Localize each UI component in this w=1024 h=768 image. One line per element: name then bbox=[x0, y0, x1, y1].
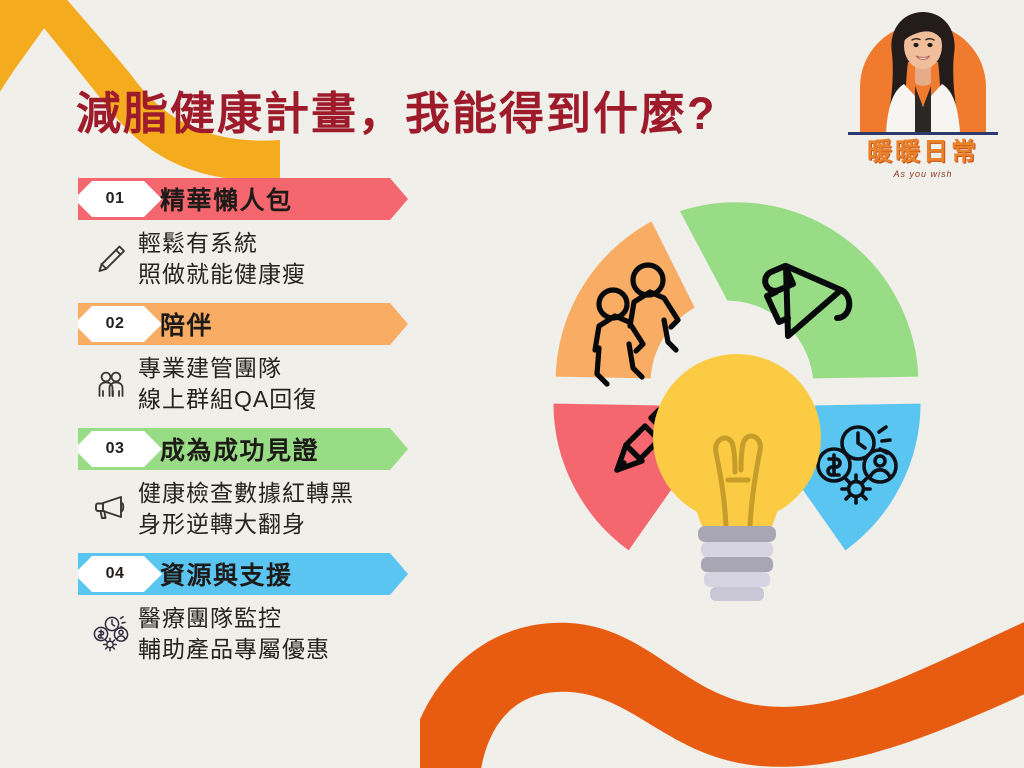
lightbulb-center-graphic bbox=[653, 354, 821, 601]
benefit-detail-text: 輕鬆有系統 照做就能健康瘦 bbox=[138, 228, 306, 289]
benefit-detail-row: 專業建管團隊 線上群組QA回復 bbox=[78, 345, 438, 416]
brand-name: 暖暖日常 bbox=[848, 140, 998, 165]
benefit-detail-text: 醫療團隊監控 輔助產品專屬優惠 bbox=[138, 603, 330, 664]
segment-testimonial[interactable] bbox=[672, 197, 924, 384]
benefit-number: 04 bbox=[78, 553, 152, 595]
benefit-detail-line: 線上群組QA回復 bbox=[138, 384, 317, 415]
benefit-detail-text: 健康檢查數據紅轉黑 身形逆轉大翻身 bbox=[138, 478, 354, 539]
benefit-detail-line: 專業建管團隊 bbox=[138, 353, 317, 384]
benefit-title: 資源與支援 bbox=[160, 553, 293, 595]
benefit-number: 03 bbox=[78, 428, 152, 470]
benefit-detail-row: 健康檢查數據紅轉黑 身形逆轉大翻身 bbox=[78, 470, 438, 541]
benefit-detail-line: 身形逆轉大翻身 bbox=[138, 509, 354, 540]
benefit-title: 精華懶人包 bbox=[160, 178, 293, 220]
page-title: 減脂健康計畫，我能得到什麼? bbox=[76, 77, 717, 142]
benefit-detail-row: 輕鬆有系統 照做就能健康瘦 bbox=[78, 220, 438, 291]
people-icon bbox=[84, 355, 138, 413]
benefit-detail-line: 輔助產品專屬優惠 bbox=[138, 634, 330, 665]
list-item[interactable]: 03 成為成功見證 健康檢查數據紅轉黑 身形逆轉大翻身 bbox=[78, 428, 438, 541]
presenter-portrait-image bbox=[874, 6, 972, 132]
slide-canvas: 減脂健康計畫，我能得到什麼? bbox=[0, 0, 1024, 768]
resources-icon bbox=[84, 605, 138, 663]
list-item[interactable]: 04 資源與支援 bbox=[78, 553, 438, 666]
benefit-bar-row: 03 成為成功見證 bbox=[78, 428, 438, 470]
benefit-detail-line: 輕鬆有系統 bbox=[138, 228, 306, 259]
list-item[interactable]: 02 陪伴 專業建管團隊 線上群組Q bbox=[78, 303, 438, 416]
benefit-title: 陪伴 bbox=[160, 303, 213, 345]
benefit-bar-row: 04 資源與支援 bbox=[78, 553, 438, 595]
benefit-detail-row: 醫療團隊監控 輔助產品專屬優惠 bbox=[78, 595, 438, 666]
benefit-detail-line: 醫療團隊監控 bbox=[138, 603, 330, 634]
brand-logo-block: 暖暖日常 As you wish bbox=[848, 4, 998, 179]
brand-divider-rule bbox=[848, 132, 998, 135]
benefit-number: 02 bbox=[78, 303, 152, 345]
segment-companionship[interactable] bbox=[550, 214, 702, 384]
benefit-number: 01 bbox=[78, 178, 152, 220]
benefit-detail-text: 專業建管團隊 線上群組QA回復 bbox=[138, 353, 317, 414]
list-item[interactable]: 01 精華懶人包 輕鬆有系統 照做就能健康瘦 bbox=[78, 178, 438, 291]
pencil-icon bbox=[84, 230, 138, 288]
benefit-bar-row: 02 陪伴 bbox=[78, 303, 438, 345]
benefit-bar-row: 01 精華懶人包 bbox=[78, 178, 438, 220]
lightbulb-segment-diagram bbox=[458, 168, 1018, 648]
megaphone-icon bbox=[84, 480, 138, 538]
brand-photo-wrapper bbox=[848, 4, 998, 132]
benefit-detail-line: 照做就能健康瘦 bbox=[138, 259, 306, 290]
benefit-detail-line: 健康檢查數據紅轉黑 bbox=[138, 478, 354, 509]
benefit-title: 成為成功見證 bbox=[160, 428, 319, 470]
benefits-list: 01 精華懶人包 輕鬆有系統 照做就能健康瘦 bbox=[78, 178, 438, 679]
